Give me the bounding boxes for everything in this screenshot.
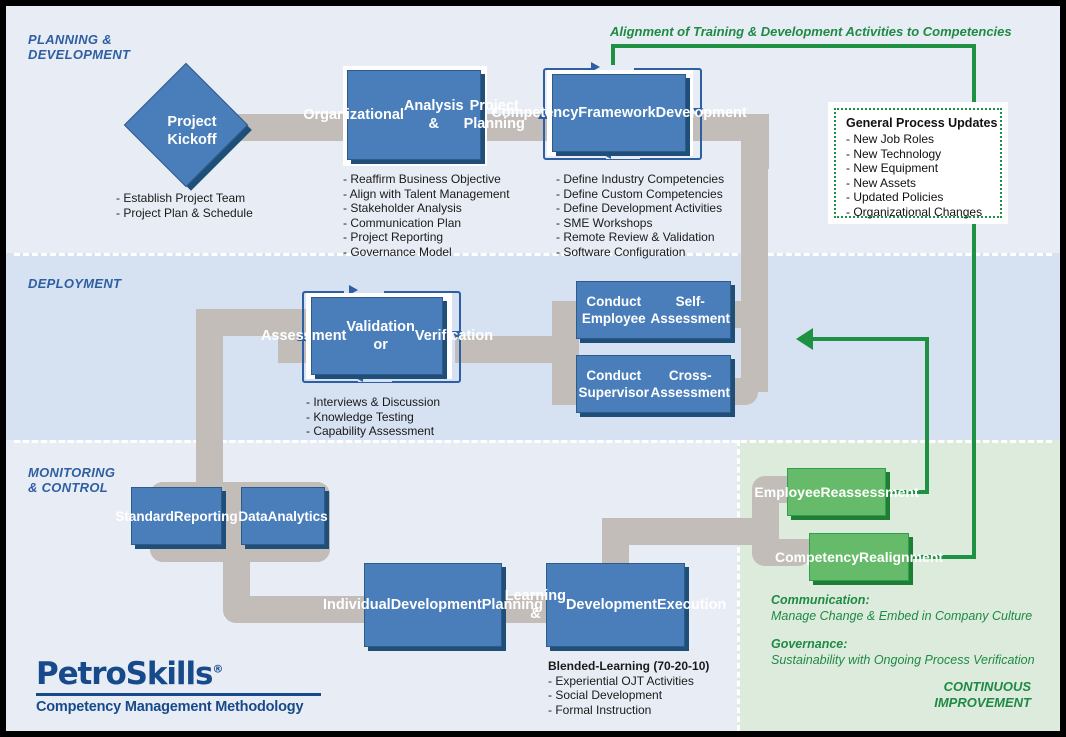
label-continuous-improvement: CONTINUOUS IMPROVEMENT [846,679,1031,711]
continuous-improvement-line1: CONTINUOUS [846,679,1031,695]
divider-planning-deployment [14,253,1052,256]
logo-wordmark: PetroSkills® [36,656,326,692]
blended-learning-title: Blended-Learning (70-20-10) [548,659,709,673]
kickoff-label-line2: Kickoff [167,131,216,149]
node-employee-reassessment[interactable]: EmployeeReassessment [787,468,886,516]
divider-deployment-monitoring [14,440,1052,443]
bullets-competency-framework: - Define Industry Competencies- Define C… [556,172,724,260]
node-data-analytics[interactable]: DataAnalytics [241,487,325,545]
node-project-kickoff[interactable]: Project Kickoff [131,70,253,192]
communication-body: Manage Change & Embed in Company Culture [771,609,1032,623]
kickoff-label: Project Kickoff [131,70,253,192]
node-standard-reporting[interactable]: StandardReporting [131,487,222,545]
petroskills-logo: PetroSkills® Competency Management Metho… [36,656,326,715]
node-learning-development-execution[interactable]: Learning &DevelopmentExecution [546,563,685,647]
general-process-updates-panel: General Process Updates - New Job Roles-… [828,102,1008,224]
band-label-planning-line2: DEVELOPMENT [28,47,130,62]
connector-down-to-deployment [741,114,768,314]
node-employee-self-assessment[interactable]: Conduct EmployeeSelf-Assessment [576,281,731,339]
node-competency-framework[interactable]: CompetencyFrameworkDevelopment [552,74,686,152]
green-arrow-to-assessment-icon [796,328,813,350]
blended-learning-items: - Experiential OJT Activities- Social De… [548,674,709,718]
diagram-canvas: PLANNING & DEVELOPMENT DEPLOYMENT MONITO… [0,0,1066,737]
green-alignment-top [611,44,976,48]
band-label-planning-line1: PLANNING & [28,32,130,47]
governance-body: Sustainability with Ongoing Process Veri… [771,653,1035,667]
node-competency-realignment[interactable]: CompetencyRealignment [809,533,909,581]
general-process-updates-items: - New Job Roles- New Technology- New Equ… [846,132,982,220]
divider-continuous-improvement [737,440,740,731]
bullets-kickoff: - Establish Project Team- Project Plan &… [116,191,253,220]
kickoff-label-line1: Project [167,113,216,131]
logo-name: PetroSkills [36,656,212,692]
band-label-deployment-line1: DEPLOYMENT [28,276,121,291]
bullets-org-analysis: - Reaffirm Business Objective- Align wit… [343,172,510,260]
text-communication: Communication: Manage Change & Embed in … [771,592,1032,624]
band-label-deployment: DEPLOYMENT [28,276,121,291]
bullets-assessment-validation: - Interviews & Discussion- Knowledge Tes… [306,395,440,439]
band-label-monitoring-line2: & CONTROL [28,480,115,495]
logo-registered-mark: ® [212,663,223,676]
general-process-updates-title: General Process Updates [846,116,997,130]
node-assessment-validation[interactable]: AssessmentValidation orVerification [311,297,443,375]
node-individual-development-planning[interactable]: IndividualDevelopmentPlanning [364,563,502,647]
logo-rule [36,693,321,696]
text-governance: Governance: Sustainability with Ongoing … [771,636,1035,668]
communication-heading: Communication: [771,592,1032,608]
bullets-blended-learning: Blended-Learning (70-20-10) - Experienti… [548,659,709,717]
band-label-planning: PLANNING & DEVELOPMENT [28,32,130,62]
green-reassessment-horizontal [811,337,929,341]
connector-down-left [196,309,223,509]
governance-heading: Governance: [771,636,1035,652]
node-organizational-analysis[interactable]: OrganizationalAnalysis &Project Planning [347,70,481,160]
continuous-improvement-line2: IMPROVEMENT [846,695,1031,711]
band-label-monitoring: MONITORING & CONTROL [28,465,115,495]
node-supervisor-cross-assessment[interactable]: Conduct SupervisorCross-Assessment [576,355,731,413]
logo-tagline: Competency Management Methodology [36,699,326,715]
green-reassessment-vertical [925,337,929,494]
connector-ld-right [602,518,752,545]
label-alignment-training: Alignment of Training & Development Acti… [610,24,1012,39]
band-label-monitoring-line1: MONITORING [28,465,115,480]
